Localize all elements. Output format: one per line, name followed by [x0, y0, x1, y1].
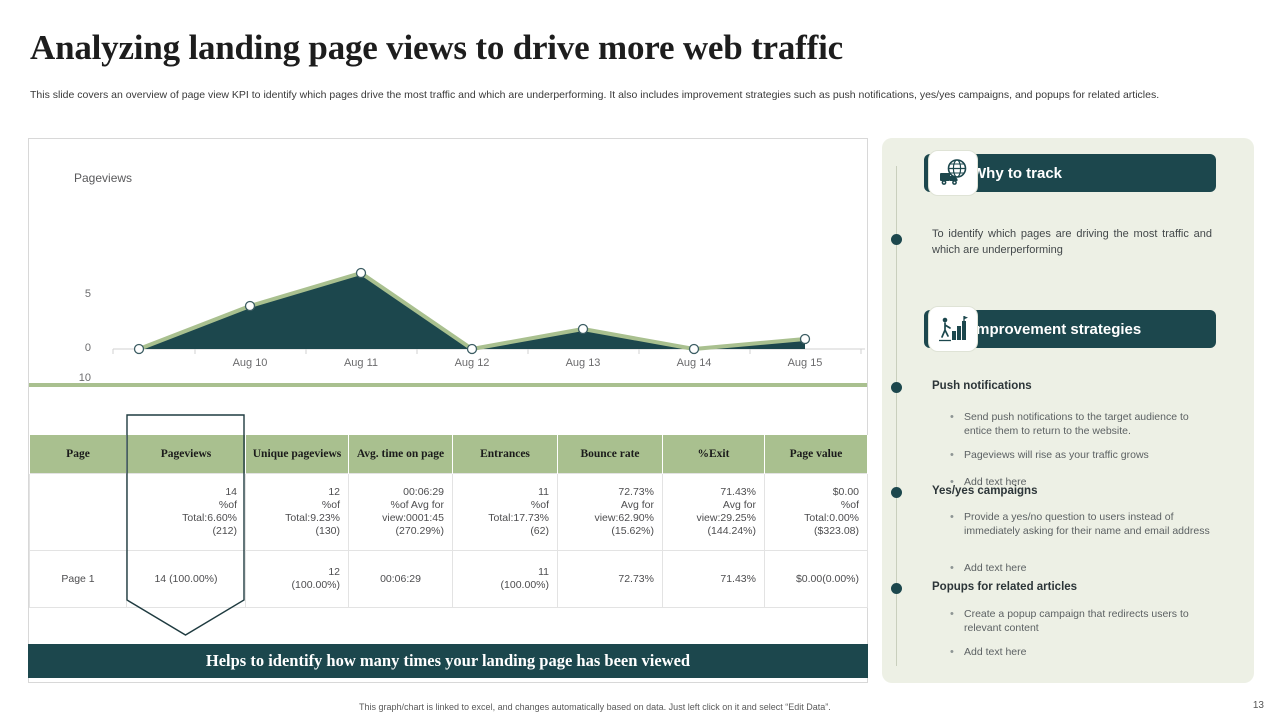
chart-point — [801, 335, 810, 344]
table-header-row: Page Pageviews Unique pageviews Avg. tim… — [30, 435, 868, 474]
slide-description: This slide covers an overview of page vi… — [30, 88, 1245, 103]
improvement-strategies-section-header[interactable]: Improvement strategies — [882, 310, 1254, 348]
x-tick-aug14: Aug 14 — [654, 357, 734, 369]
x-tick-aug11: Aug 11 — [321, 357, 401, 369]
col-pageviews[interactable]: Pageviews — [127, 435, 246, 474]
timeline-dot-popups — [891, 583, 902, 594]
cell-summary-exit: 71.43%Avg forview:29.25%(144.24%) — [663, 474, 765, 551]
list-item: Pageviews will rise as your traffic grow… — [964, 448, 1210, 462]
footer-note: This graph/chart is linked to excel, and… — [359, 702, 831, 712]
chart-point — [468, 345, 477, 354]
x-tick-aug12: Aug 12 — [432, 357, 512, 369]
x-tick-aug13: Aug 13 — [543, 357, 623, 369]
group-title-push-notifications: Push notifications — [932, 380, 1032, 392]
chart-and-table-card: Pageviews 10 5 0 — [28, 138, 868, 683]
cell-row1-entrances: 11(100.00%) — [453, 551, 558, 608]
col-page[interactable]: Page — [30, 435, 127, 474]
cell-summary-entrances: 11%ofTotal:17.73%(62) — [453, 474, 558, 551]
globe-truck-icon — [928, 150, 978, 196]
x-tick-aug15: Aug 15 — [765, 357, 845, 369]
list-item: Provide a yes/no question to users inste… — [964, 510, 1210, 538]
cell-summary-bounce: 72.73%Avg forview:62.90%(15.62%) — [558, 474, 663, 551]
list-item: Send push notifications to the target au… — [964, 410, 1210, 438]
table-row: 14%ofTotal:6.60%(212) 12%ofTotal:9.23%(1… — [30, 474, 868, 551]
col-bounce-rate[interactable]: Bounce rate — [558, 435, 663, 474]
timeline-dot-push — [891, 382, 902, 393]
cell-summary-page — [30, 474, 127, 551]
cell-summary-unique: 12%ofTotal:9.23%(130) — [246, 474, 349, 551]
cell-row1-pagevalue: $0.00(0.00%) — [765, 551, 868, 608]
chart-point — [690, 345, 699, 354]
col-unique-pageviews[interactable]: Unique pageviews — [246, 435, 349, 474]
key-takeaway-banner: Helps to identify how many times your la… — [28, 644, 868, 678]
table-row: Page 1 14 (100.00%) 12(100.00%) 00:06:29… — [30, 551, 868, 608]
growth-chart-person-icon — [928, 306, 978, 352]
cell-summary-pagevalue: $0.00%ofTotal:0.00%($323.08) — [765, 474, 868, 551]
timeline-dot-yesyes — [891, 487, 902, 498]
chart-point — [246, 302, 255, 311]
timeline-dot-why — [891, 234, 902, 245]
banner-text: Helps to identify how many times your la… — [206, 651, 690, 671]
cell-row1-page: Page 1 — [30, 551, 127, 608]
why-to-track-section-header[interactable]: Why to track — [882, 154, 1254, 192]
list-item: Create a popup campaign that redirects u… — [964, 607, 1210, 635]
chart-point — [357, 269, 366, 278]
cell-summary-pageviews: 14%ofTotal:6.60%(212) — [127, 474, 246, 551]
list-item: Add text here — [964, 645, 1210, 659]
chart-divider — [29, 383, 867, 387]
cell-row1-pageviews: 14 (100.00%) — [127, 551, 246, 608]
improvement-strategies-title: Improvement strategies — [972, 321, 1141, 338]
col-avg-time-on-page[interactable]: Avg. time on page — [349, 435, 453, 474]
cell-row1-avgtime: 00:06:29 — [349, 551, 453, 608]
x-tick-aug10: Aug 10 — [210, 357, 290, 369]
pageviews-table: Page Pageviews Unique pageviews Avg. tim… — [29, 435, 868, 608]
col-pct-exit[interactable]: %Exit — [663, 435, 765, 474]
list-item: Add text here — [964, 561, 1210, 575]
why-to-track-title: Why to track — [972, 165, 1062, 182]
pageviews-area-chart[interactable]: Pageviews 10 5 0 — [29, 139, 867, 385]
page-number: 13 — [1253, 700, 1264, 711]
cell-summary-avgtime: 00:06:29%of Avg forview:0001:45(270.29%) — [349, 474, 453, 551]
group-title-popups-related-articles: Popups for related articles — [932, 581, 1077, 593]
cell-row1-unique: 12(100.00%) — [246, 551, 349, 608]
page-title: Analyzing landing page views to drive mo… — [30, 28, 1250, 68]
insights-panel: Why to track To identify which pages are… — [882, 138, 1254, 683]
chart-point — [135, 345, 144, 354]
group-title-yes-yes-campaigns: Yes/yes campaigns — [932, 485, 1037, 497]
cell-row1-bounce: 72.73% — [558, 551, 663, 608]
col-entrances[interactable]: Entrances — [453, 435, 558, 474]
why-to-track-body: To identify which pages are driving the … — [932, 226, 1212, 258]
cell-row1-exit: 71.43% — [663, 551, 765, 608]
chart-point — [579, 325, 588, 334]
col-page-value[interactable]: Page value — [765, 435, 868, 474]
chart-canvas — [29, 139, 867, 385]
